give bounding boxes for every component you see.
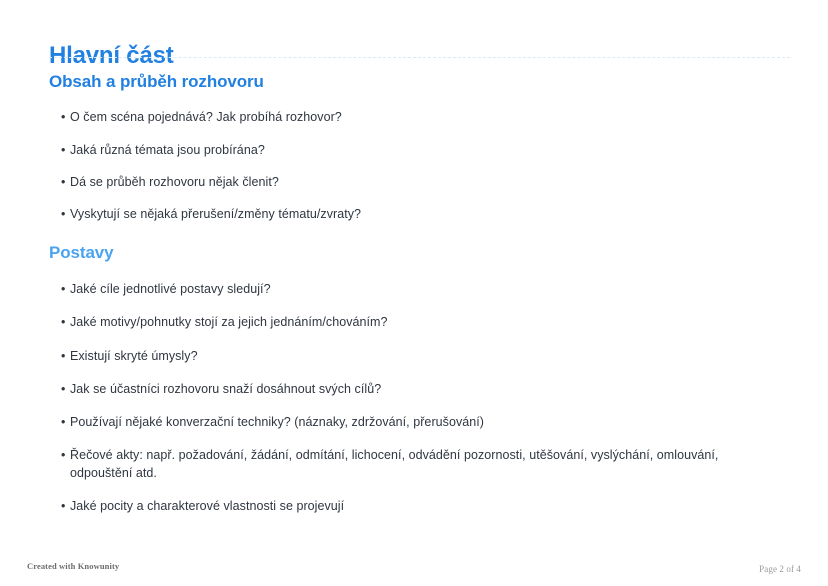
list-item: • Řečové akty: např. požadování, žádání,… [0,446,828,482]
section-postavy: Postavy • Jaké cíle jednotlivé postavy s… [0,243,828,515]
bullet-dot-icon: • [61,497,65,515]
list-item: • Jaké pocity a charakterové vlastnosti … [0,497,828,515]
list-item: • Jak se účastníci rozhovoru snaží dosáh… [0,380,828,398]
list-item-text: Používají nějaké konverzační techniky? (… [70,415,484,429]
bullet-dot-icon: • [61,347,65,365]
footer-credit: Created with Knowunity [27,561,119,571]
list-item: • Jaké motivy/pohnutky stojí za jejich j… [0,313,828,331]
slide-page: Hlavní část Obsah a průběh rozhovoru • O… [0,0,828,586]
list-item-text: Jaké cíle jednotlivé postavy sledují? [70,282,271,296]
list-item-text: Vyskytují se nějaká přerušení/změny téma… [70,207,361,221]
bullet-dot-icon: • [61,280,65,298]
list-item-text: Jaké pocity a charakterové vlastnosti se… [70,499,344,513]
list-item-text: Existují skryté úmysly? [70,349,198,363]
list-item-text: Dá se průběh rozhovoru nějak členit? [70,175,279,189]
bullet-dot-icon: • [61,205,65,223]
list-item-text: Jak se účastníci rozhovoru snaží dosáhno… [70,382,381,396]
bullet-dot-icon: • [61,173,65,191]
footer-page-number: Page 2 of 4 [759,564,801,574]
list-item: • Jaké cíle jednotlivé postavy sledují? [0,280,828,298]
list-item: • Dá se průběh rozhovoru nějak členit? [0,173,828,191]
bullet-dot-icon: • [61,141,65,159]
bullet-dot-icon: • [61,108,65,126]
bullet-dot-icon: • [61,413,65,431]
section-obsah-a-prubeh-rozhovoru: Obsah a průběh rozhovoru • O čem scéna p… [0,72,828,223]
list-item: • Existují skryté úmysly? [0,347,828,365]
title-divider [49,57,790,59]
list-item: • O čem scéna pojednává? Jak probíhá roz… [0,108,828,126]
bullet-dot-icon: • [61,380,65,398]
slide-content: Obsah a průběh rozhovoru • O čem scéna p… [0,66,828,515]
list-item-text: Jaká různá témata jsou probírána? [70,143,265,157]
list-item: • Používají nějaké konverzační techniky?… [0,413,828,431]
bullet-list: • O čem scéna pojednává? Jak probíhá roz… [0,108,828,223]
bullet-dot-icon: • [61,313,65,331]
section-heading: Obsah a průběh rozhovoru [0,72,828,92]
list-item-text: O čem scéna pojednává? Jak probíhá rozho… [70,110,342,124]
bullet-list: • Jaké cíle jednotlivé postavy sledují? … [0,280,828,515]
list-item: • Jaká různá témata jsou probírána? [0,141,828,159]
bullet-dot-icon: • [61,446,65,464]
section-heading: Postavy [0,243,828,263]
list-item-text: Jaké motivy/pohnutky stojí za jejich jed… [70,315,388,329]
list-item: • Vyskytují se nějaká přerušení/změny té… [0,205,828,223]
list-item-text: Řečové akty: např. požadování, žádání, o… [70,448,718,480]
